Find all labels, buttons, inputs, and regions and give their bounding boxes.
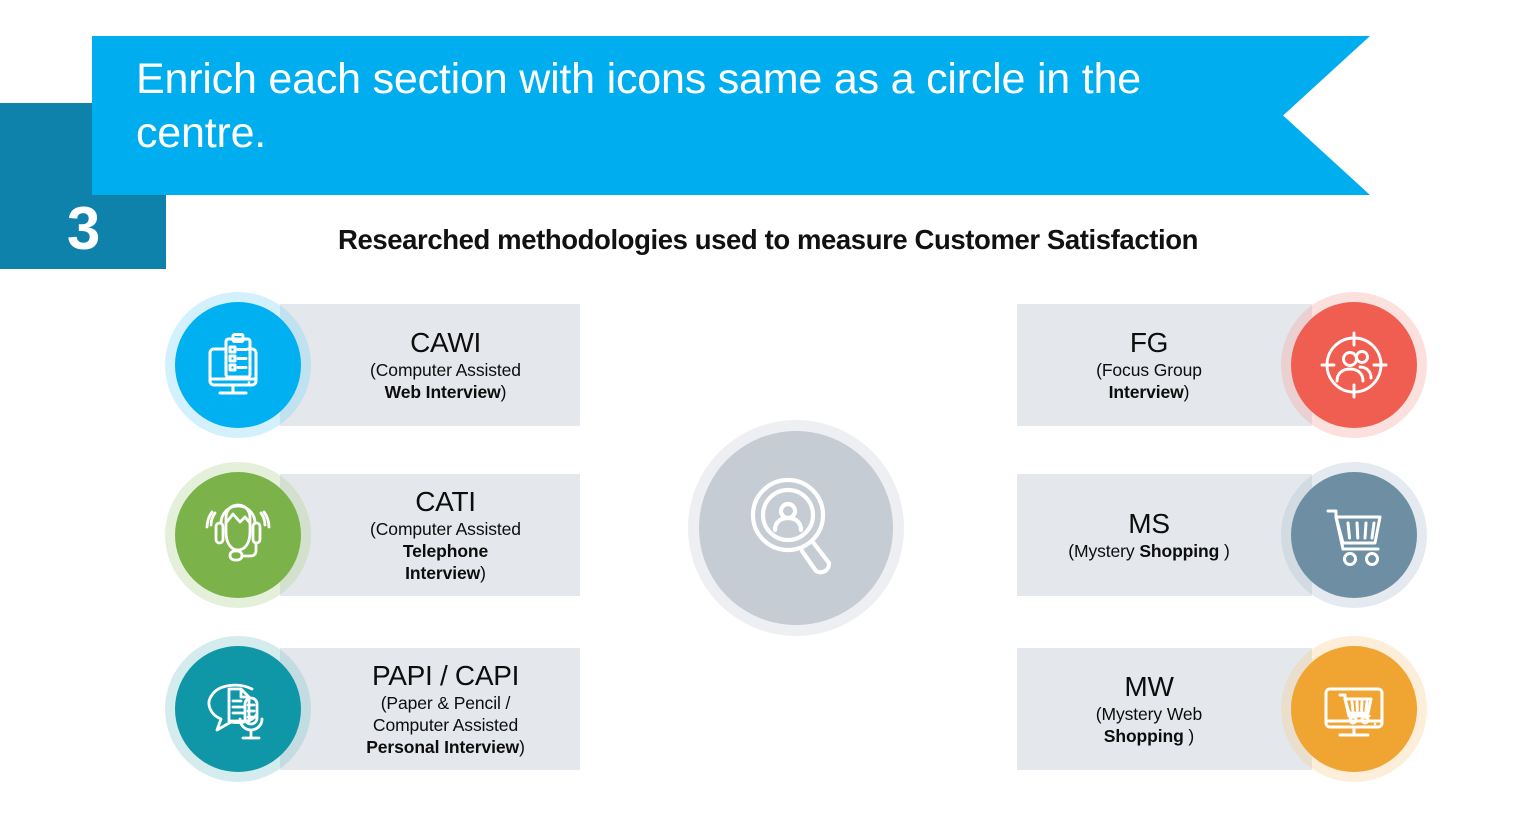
card-text: CAWI (Computer Assisted Web Interview) <box>311 304 580 426</box>
circle-disc <box>1291 472 1417 598</box>
method-expansion: (Computer Assisted Telephone Interview) <box>370 518 521 584</box>
expansion-line-tail: ) <box>480 563 486 583</box>
expansion-line-bold: Shopping <box>1139 541 1219 561</box>
method-expansion: (Mystery Shopping ) <box>1068 540 1229 562</box>
center-emblem <box>688 420 904 636</box>
method-expansion: (Computer Assisted Web Interview) <box>370 359 521 403</box>
method-expansion: (Paper & Pencil / Computer Assisted Pers… <box>366 692 525 758</box>
magnifier-person-icon <box>736 466 856 591</box>
page-title: Enrich each section with icons same as a… <box>136 52 1226 160</box>
method-row-mw[interactable]: MW (Mystery Web Shopping ) <box>1017 636 1427 806</box>
expansion-line-bold: Telephone <box>403 541 488 561</box>
card-text: FG (Focus Group Interview) <box>1017 304 1281 426</box>
section-subtitle: Researched methodologies used to measure… <box>0 224 1536 256</box>
method-row-fg[interactable]: FG (Focus Group Interview) <box>1017 292 1427 462</box>
expansion-line: (Computer Assisted <box>370 360 521 380</box>
expansion-line-bold: Interview <box>405 563 480 583</box>
method-acronym: MS <box>1128 508 1169 539</box>
method-acronym: CATI <box>415 486 476 517</box>
expansion-line: Computer Assisted <box>373 715 518 735</box>
method-acronym: CAWI <box>410 327 481 358</box>
method-icon-circle-cati[interactable] <box>165 462 311 608</box>
shopping-cart-icon <box>1312 493 1396 577</box>
method-icon-circle-fg[interactable] <box>1281 292 1427 438</box>
expansion-line-bold: Personal Interview <box>366 737 519 757</box>
card-text: MS (Mystery Shopping ) <box>1017 474 1281 596</box>
target-people-icon <box>1312 323 1396 407</box>
expansion-line-bold: Shopping <box>1104 726 1184 746</box>
method-icon-circle-mw[interactable] <box>1281 636 1427 782</box>
method-row-cati[interactable]: CATI (Computer Assisted Telephone Interv… <box>165 462 580 632</box>
method-acronym: FG <box>1130 327 1168 358</box>
method-expansion: (Focus Group Interview) <box>1096 359 1202 403</box>
method-row-cawi[interactable]: CAWI (Computer Assisted Web Interview) <box>165 292 580 462</box>
monitor-cart-icon <box>1312 667 1396 751</box>
circle-disc <box>1291 302 1417 428</box>
circle-disc <box>175 302 301 428</box>
circle-disc <box>1291 646 1417 772</box>
circle-disc <box>175 472 301 598</box>
method-acronym: PAPI / CAPI <box>372 660 519 691</box>
expansion-line: (Focus Group <box>1096 360 1202 380</box>
center-disc <box>699 431 893 625</box>
expansion-line: (Mystery Web <box>1096 704 1202 724</box>
headset-agent-icon <box>196 493 280 577</box>
expansion-line-tail: ) <box>1184 382 1190 402</box>
method-expansion: (Mystery Web Shopping ) <box>1096 703 1202 747</box>
method-row-ms[interactable]: MS (Mystery Shopping ) <box>1017 462 1427 632</box>
expansion-line-tail: ) <box>1184 726 1195 746</box>
expansion-line-bold: Interview <box>1109 382 1184 402</box>
expansion-line-bold: Web Interview <box>385 382 501 402</box>
card-text: CATI (Computer Assisted Telephone Interv… <box>311 474 580 596</box>
method-icon-circle-cawi[interactable] <box>165 292 311 438</box>
method-icon-circle-papi-capi[interactable] <box>165 636 311 782</box>
card-text: PAPI / CAPI (Paper & Pencil / Computer A… <box>311 648 580 770</box>
circle-disc <box>175 646 301 772</box>
expansion-line: (Paper & Pencil / <box>381 693 511 713</box>
expansion-line-tail: ) <box>519 737 525 757</box>
expansion-line: (Computer Assisted <box>370 519 521 539</box>
expansion-line-tail: ) <box>501 382 507 402</box>
expansion-line-tail: ) <box>1219 541 1230 561</box>
speech-document-microphone-icon <box>196 667 280 751</box>
card-text: MW (Mystery Web Shopping ) <box>1017 648 1281 770</box>
method-row-papi-capi[interactable]: PAPI / CAPI (Paper & Pencil / Computer A… <box>165 636 580 806</box>
expansion-line: (Mystery <box>1068 541 1139 561</box>
monitor-checklist-icon <box>196 323 280 407</box>
method-icon-circle-ms[interactable] <box>1281 462 1427 608</box>
method-acronym: MW <box>1124 671 1173 702</box>
